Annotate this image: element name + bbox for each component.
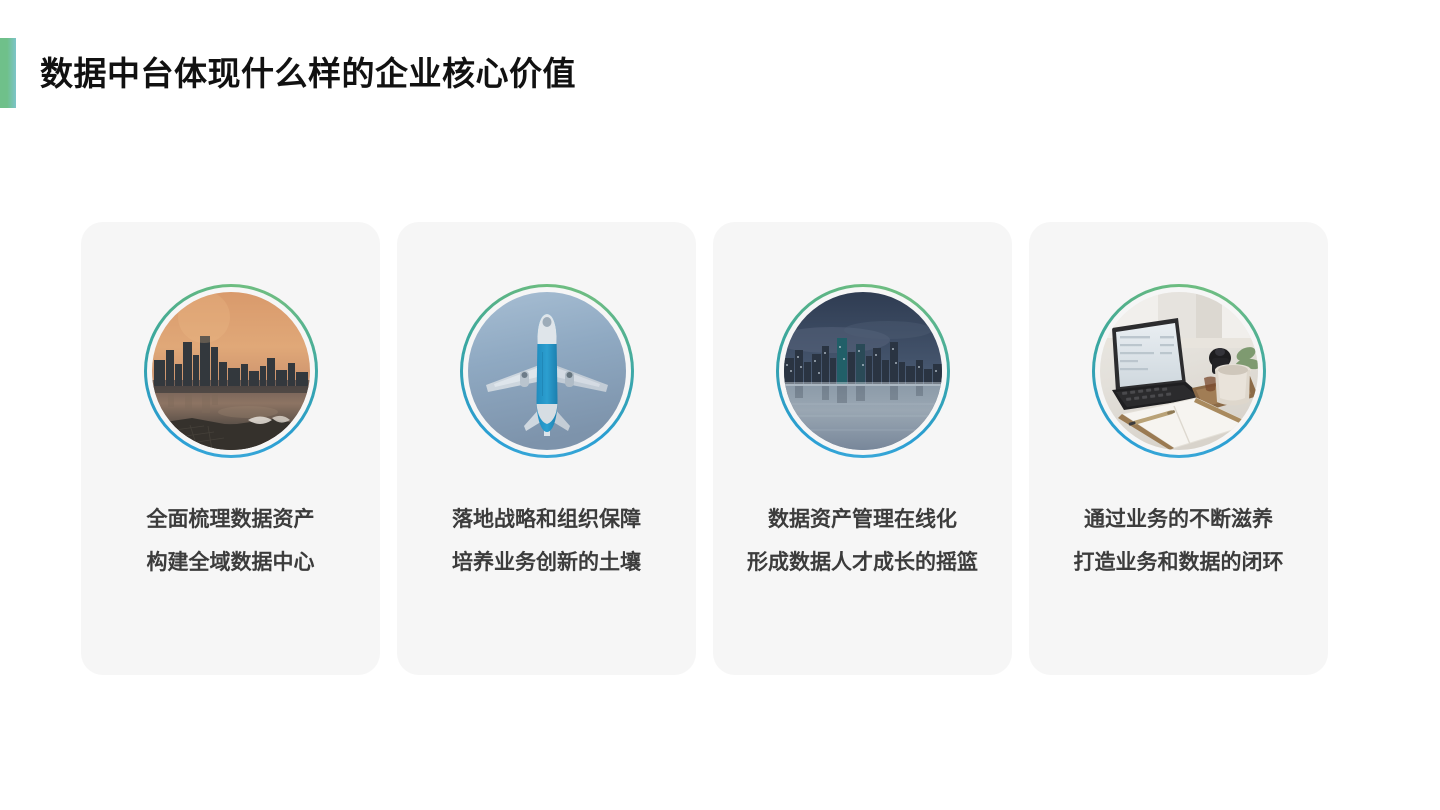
card-caption: 落地战略和组织保障 培养业务创新的土壤 [452,498,641,584]
caption-line-1: 落地战略和组织保障 [452,498,641,541]
caption-line-2: 形成数据人才成长的摇篮 [747,541,978,584]
caption-line-1: 通过业务的不断滋养 [1074,498,1284,541]
twilight-city-waterfront-photo [784,292,942,450]
title-accent-bar [0,38,16,108]
photo-ring [1092,284,1266,458]
caption-line-2: 培养业务创新的土壤 [452,541,641,584]
value-card[interactable]: 通过业务的不断滋养 打造业务和数据的闭环 [1029,222,1328,675]
photo-ring [144,284,318,458]
card-caption: 全面梳理数据资产 构建全域数据中心 [147,498,315,584]
value-card[interactable]: 全面梳理数据资产 构建全域数据中心 [81,222,380,675]
value-cards-row: 全面梳理数据资产 构建全域数据中心 [81,222,1328,675]
caption-line-2: 打造业务和数据的闭环 [1074,541,1284,584]
page-title: 数据中台体现什么样的企业核心价值 [40,57,576,90]
airplane-sky-photo [468,292,626,450]
value-card[interactable]: 数据资产管理在线化 形成数据人才成长的摇篮 [713,222,1012,675]
card-caption: 数据资产管理在线化 形成数据人才成长的摇篮 [747,498,978,584]
photo-ring [776,284,950,458]
value-card[interactable]: 落地战略和组织保障 培养业务创新的土壤 [397,222,696,675]
caption-line-1: 全面梳理数据资产 [147,498,315,541]
caption-line-1: 数据资产管理在线化 [747,498,978,541]
card-caption: 通过业务的不断滋养 打造业务和数据的闭环 [1074,498,1284,584]
slide-header: 数据中台体现什么样的企业核心价值 [0,38,576,108]
caption-line-2: 构建全域数据中心 [147,541,315,584]
laptop-notebook-coffee-photo [1100,292,1258,450]
photo-ring [460,284,634,458]
sunset-city-harbor-photo [152,292,310,450]
